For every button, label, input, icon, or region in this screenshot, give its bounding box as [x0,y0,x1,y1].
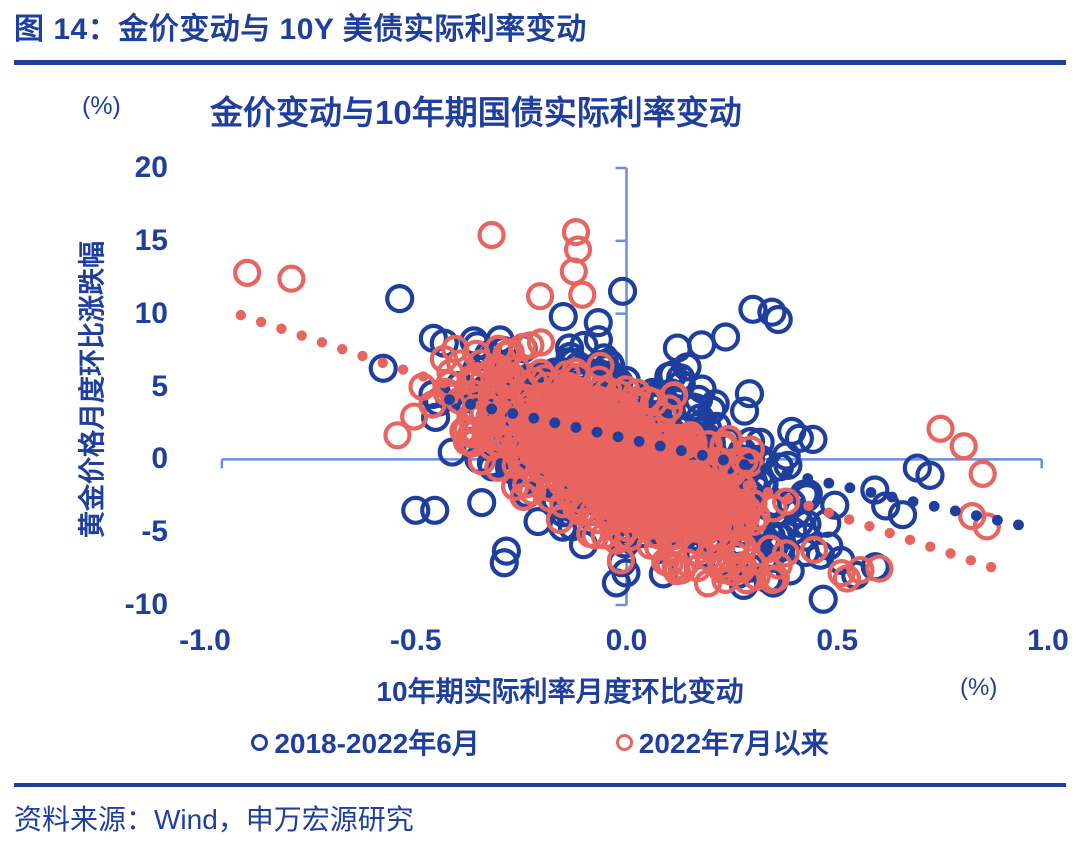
y-axis-tick-label: 0 [68,444,168,474]
chart-container: (%) 金价变动与10年期国债实际利率变动 黄金价格月度环比涨跌幅 201510… [0,70,1080,780]
chart-legend: 2018-2022年6月 2022年7月以来 [0,718,1080,766]
y-axis-tick-label: -10 [68,590,168,620]
x-axis-tick-label: 0.0 [567,626,687,656]
y-axis-tick-label: 10 [68,299,168,329]
y-axis-tick-label: 20 [68,153,168,183]
legend-item-label: 2022年7月以来 [639,722,829,762]
figure-header: 图 14：金价变动与 10Y 美债实际利率变动 [14,8,1066,70]
scatter-series [235,220,999,595]
legend-marker-circle-icon [616,734,633,751]
page-title: 图 14：金价变动与 10Y 美债实际利率变动 [14,8,1066,52]
x-axis-tick-label: 0.5 [777,626,897,656]
scatter-plot [180,70,1070,650]
x-axis-title: 10年期实际利率月度环比变动 [260,670,860,710]
x-axis-tick-label: 1.0 [988,626,1080,656]
source-note: 资料来源：Wind，申万宏源研究 [14,798,414,838]
x-axis-unit-label: (%) [960,674,997,702]
x-axis-tick-label: -1.0 [145,626,265,656]
legend-item-1[interactable]: 2022年7月以来 [616,722,829,762]
legend-item-0[interactable]: 2018-2022年6月 [251,722,479,762]
header-divider [14,60,1066,65]
footer-divider [14,783,1066,787]
x-axis-tick-label: -0.5 [356,626,476,656]
legend-item-label: 2018-2022年6月 [274,722,479,762]
legend-marker-circle-icon [251,734,268,751]
y-axis-tick-label: -5 [68,517,168,547]
plot-canvas [180,70,1070,650]
y-axis-tick-label: 5 [68,372,168,402]
y-axis-tick-label: 15 [68,226,168,256]
x-axis-tick-labels: -1.0-0.50.00.51.0 [0,626,1080,676]
